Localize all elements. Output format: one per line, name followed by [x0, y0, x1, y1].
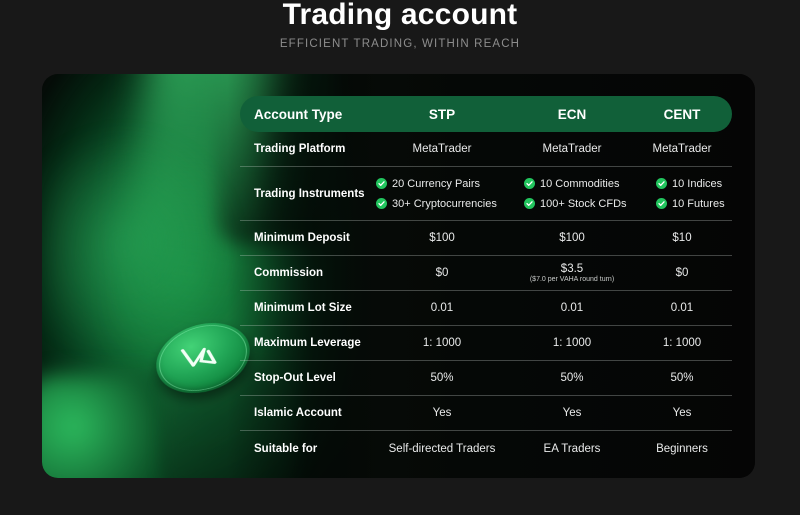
cell-lot-ecn: 0.01 — [512, 302, 632, 314]
instrument-label: 30+ Cryptocurrencies — [392, 198, 497, 210]
cell-commission-ecn: $3.5 ($7.0 per VAHA round turn) — [512, 263, 632, 284]
cell-suitable-ecn: EA Traders — [512, 443, 632, 455]
instruments-column-stp: 20 Currency Pairs 30+ Cryptocurrencies — [376, 178, 524, 210]
cell-leverage-ecn: 1: 1000 — [512, 337, 632, 349]
cell-platform-cent: MetaTrader — [632, 143, 732, 155]
check-circle-icon — [376, 178, 387, 189]
table-row: Minimum Deposit $100 $100 $10 — [240, 221, 732, 256]
check-circle-icon — [656, 178, 667, 189]
list-item: 10 Futures — [656, 198, 755, 210]
row-label-maximum-leverage: Maximum Leverage — [240, 337, 372, 349]
table-row: Trading Instruments 20 Currency Pairs 30… — [240, 167, 732, 221]
instruments-column-ecn: 10 Commodities 100+ Stock CFDs — [524, 178, 656, 210]
cell-commission-cent: $0 — [632, 267, 732, 280]
row-label-suitable-for: Suitable for — [240, 443, 372, 455]
check-circle-icon — [376, 198, 387, 209]
trading-account-page: Trading account EFFICIENT TRADING, WITHI… — [0, 0, 800, 515]
table-row: Commission $0 $3.5 ($7.0 per VAHA round … — [240, 256, 732, 291]
table-row: Islamic Account Yes Yes Yes — [240, 396, 732, 431]
list-item: 20 Currency Pairs — [376, 178, 524, 190]
column-header-cent: CENT — [632, 107, 732, 122]
row-label-stop-out-level: Stop-Out Level — [240, 372, 372, 384]
cell-deposit-cent: $10 — [632, 232, 732, 244]
list-item: 30+ Cryptocurrencies — [376, 198, 524, 210]
table-row: Stop-Out Level 50% 50% 50% — [240, 361, 732, 396]
check-circle-icon — [524, 178, 535, 189]
cell-islamic-ecn: Yes — [512, 407, 632, 419]
cell-suitable-stp: Self-directed Traders — [372, 443, 512, 455]
cell-leverage-stp: 1: 1000 — [372, 337, 512, 349]
cell-commission-stp: $0 — [372, 267, 512, 280]
cell-lot-stp: 0.01 — [372, 302, 512, 314]
cell-deposit-stp: $100 — [372, 232, 512, 244]
cell-platform-ecn: MetaTrader — [512, 143, 632, 155]
table-row: Maximum Leverage 1: 1000 1: 1000 1: 1000 — [240, 326, 732, 361]
row-label-trading-platform: Trading Platform — [240, 143, 372, 155]
instrument-label: 10 Futures — [672, 198, 725, 210]
list-item: 10 Commodities — [524, 178, 656, 190]
page-subtitle: EFFICIENT TRADING, WITHIN REACH — [0, 38, 800, 50]
cell-stopout-stp: 50% — [372, 372, 512, 384]
cell-lot-cent: 0.01 — [632, 302, 732, 314]
check-circle-icon — [524, 198, 535, 209]
row-label-trading-instruments: Trading Instruments — [240, 188, 372, 200]
commission-value: $0 — [632, 267, 732, 280]
column-header-stp: STP — [372, 107, 512, 122]
cell-stopout-ecn: 50% — [512, 372, 632, 384]
row-label-minimum-deposit: Minimum Deposit — [240, 232, 372, 244]
cell-islamic-cent: Yes — [632, 407, 732, 419]
column-header-account-type: Account Type — [240, 107, 372, 122]
column-header-ecn: ECN — [512, 107, 632, 122]
instruments-column-cent: 10 Indices 10 Futures — [656, 178, 755, 210]
cell-deposit-ecn: $100 — [512, 232, 632, 244]
instrument-label: 100+ Stock CFDs — [540, 198, 627, 210]
account-comparison-card: Account Type STP ECN CENT Trading Platfo… — [42, 74, 755, 478]
cell-platform-stp: MetaTrader — [372, 143, 512, 155]
cell-islamic-stp: Yes — [372, 407, 512, 419]
list-item: 10 Indices — [656, 178, 755, 190]
instrument-label: 10 Indices — [672, 178, 722, 190]
commission-value: $3.5 — [512, 263, 632, 276]
row-label-islamic-account: Islamic Account — [240, 407, 372, 419]
account-comparison-table: Account Type STP ECN CENT Trading Platfo… — [240, 96, 732, 467]
instrument-label: 20 Currency Pairs — [392, 178, 480, 190]
commission-note: ($7.0 per VAHA round turn) — [512, 276, 632, 283]
instrument-label: 10 Commodities — [540, 178, 619, 190]
cell-suitable-cent: Beginners — [632, 443, 732, 455]
row-label-minimum-lot-size: Minimum Lot Size — [240, 302, 372, 314]
table-row: Suitable for Self-directed Traders EA Tr… — [240, 431, 732, 467]
page-title: Trading account — [0, 0, 800, 32]
list-item: 100+ Stock CFDs — [524, 198, 656, 210]
instruments-grid: 20 Currency Pairs 30+ Cryptocurrencies 1… — [372, 178, 755, 210]
table-row: Minimum Lot Size 0.01 0.01 0.01 — [240, 291, 732, 326]
check-circle-icon — [656, 198, 667, 209]
cell-leverage-cent: 1: 1000 — [632, 337, 732, 349]
row-label-commission: Commission — [240, 267, 372, 279]
commission-value: $0 — [372, 267, 512, 280]
cell-stopout-cent: 50% — [632, 372, 732, 384]
table-row: Trading Platform MetaTrader MetaTrader M… — [240, 132, 732, 167]
table-header-row: Account Type STP ECN CENT — [240, 96, 732, 132]
